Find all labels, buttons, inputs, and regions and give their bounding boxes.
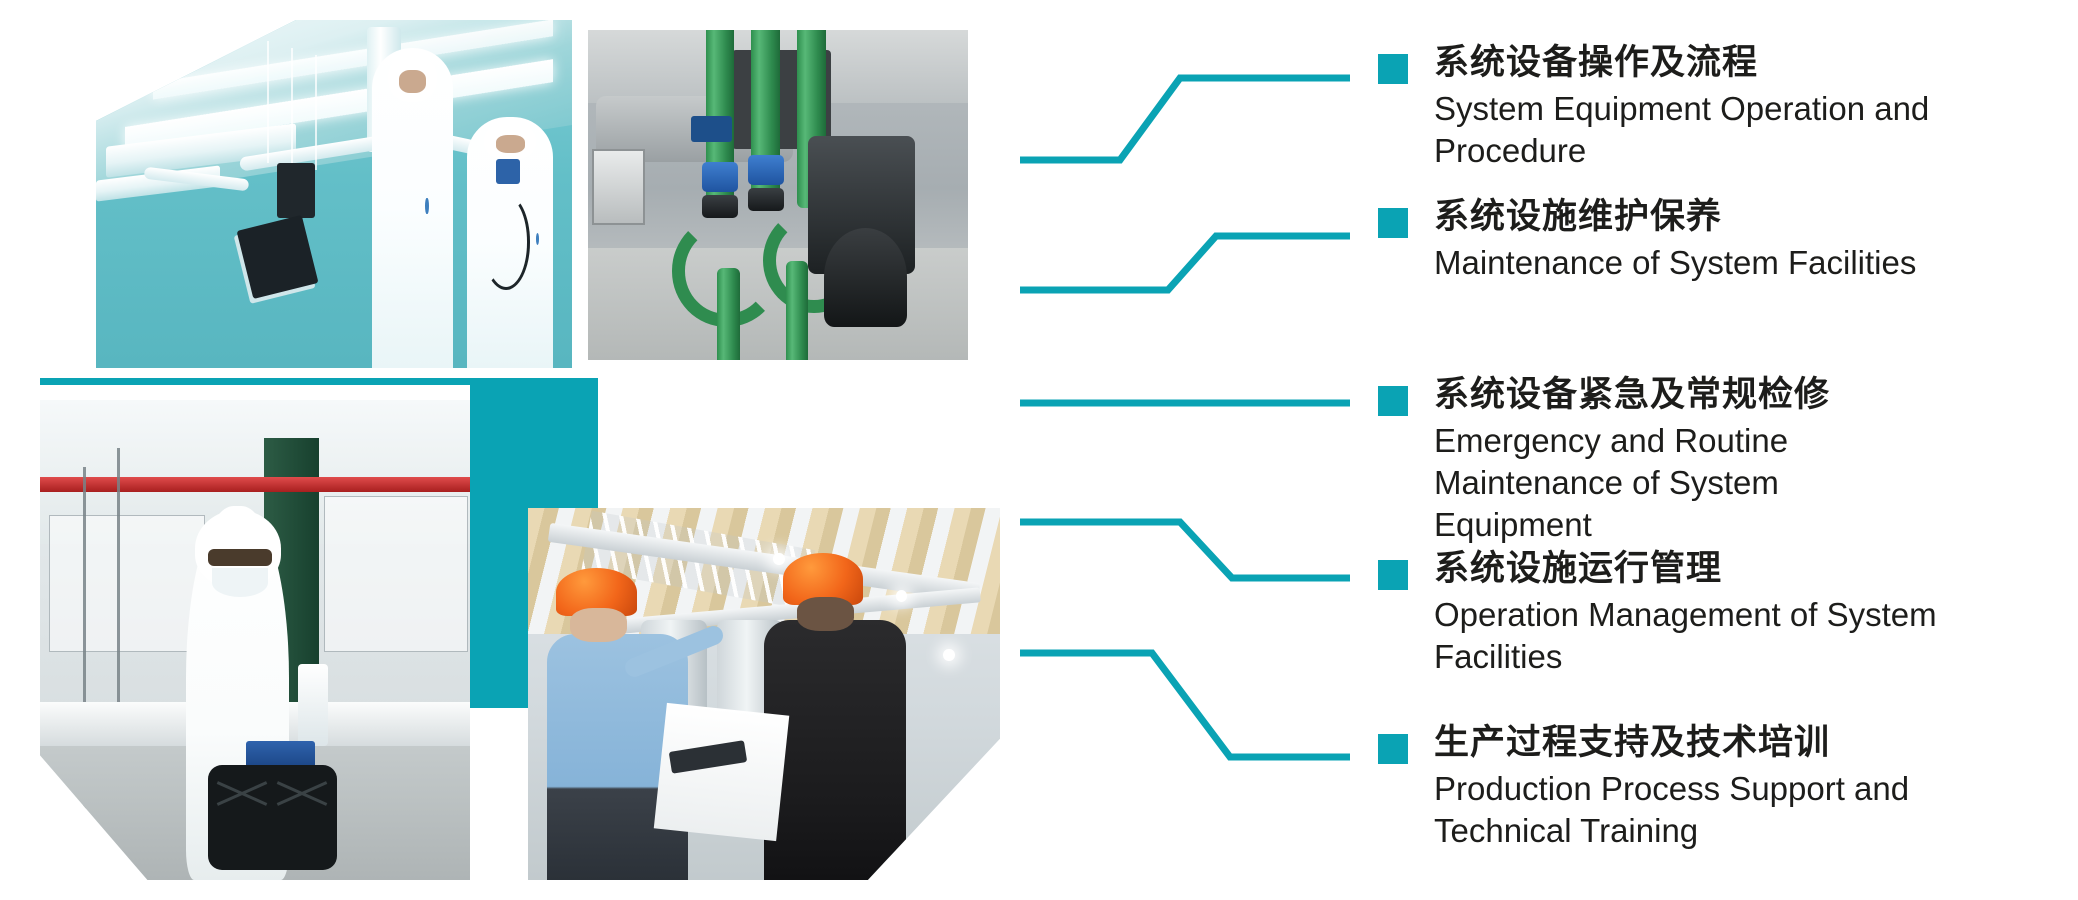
- photo-cleanroom-technician: [40, 400, 470, 880]
- bullet-square-icon: [1378, 560, 1408, 590]
- service-label-en: System Equipment Operation and Procedure: [1434, 88, 2074, 172]
- service-item-3[interactable]: 系统设备紧急及常规检修 Emergency and Routine Mainte…: [1378, 374, 1864, 546]
- worker-face: [496, 135, 525, 153]
- ceiling-lamp: [773, 553, 784, 565]
- photo-cleanroom-workers: [96, 20, 572, 368]
- pressure-gauge: [691, 116, 733, 142]
- service-label-en: Operation Management of System Facilitie…: [1434, 594, 1974, 678]
- engineer-head: [797, 597, 854, 630]
- worker-badge: [536, 233, 539, 246]
- blue-flexible-coupling: [702, 162, 738, 192]
- filter-test-hood: [208, 765, 337, 871]
- service-item-text: 系统设施维护保养 Maintenance of System Facilitie…: [1434, 196, 1916, 284]
- photo-engineers-inspection: [528, 508, 1000, 880]
- service-item-text: 系统设备紧急及常规检修 Emergency and Routine Mainte…: [1434, 374, 1864, 546]
- suspended-instrument: [277, 163, 315, 219]
- handheld-tool: [496, 159, 520, 183]
- worker-face: [399, 70, 427, 92]
- service-label-zh: 生产过程支持及技术培训: [1434, 722, 1934, 765]
- service-label-zh: 系统设备操作及流程: [1434, 42, 2074, 85]
- connector-line-2: [1020, 236, 1350, 290]
- rubber-expansion-joint: [748, 188, 784, 211]
- spray-bottle: [298, 664, 328, 746]
- service-item-text: 系统设施运行管理 Operation Management of System …: [1434, 548, 1974, 678]
- service-item-text: 系统设备操作及流程 System Equipment Operation and…: [1434, 42, 2074, 172]
- service-label-en: Emergency and Routine Maintenance of Sys…: [1434, 420, 1864, 547]
- bullet-square-icon: [1378, 208, 1408, 238]
- service-item-4[interactable]: 系统设施运行管理 Operation Management of System …: [1378, 548, 1974, 678]
- hanging-cable: [315, 55, 317, 170]
- service-label-en: Production Process Support and Technical…: [1434, 768, 1934, 852]
- engineer-head: [570, 608, 627, 641]
- equipment-rack: [324, 496, 468, 652]
- blue-flexible-coupling: [748, 155, 784, 185]
- hanging-cable: [267, 41, 269, 163]
- slide-canvas: 系统设备操作及流程 System Equipment Operation and…: [0, 0, 2078, 900]
- ceiling-lamp: [943, 649, 954, 661]
- cleanroom-worker: [372, 48, 453, 368]
- service-photo-collage: [0, 0, 1000, 900]
- connector-line-4: [1020, 522, 1350, 578]
- service-label-zh: 系统设施维护保养: [1434, 196, 1916, 239]
- service-label-zh: 系统设施运行管理: [1434, 548, 1974, 591]
- services-list: 系统设备操作及流程 System Equipment Operation and…: [1378, 0, 2078, 900]
- connector-line-1: [1020, 78, 1350, 160]
- pump-volute: [824, 228, 908, 327]
- service-label-en: Maintenance of System Facilities: [1434, 242, 1916, 284]
- photo-industrial-pipes: [588, 30, 968, 360]
- service-item-text: 生产过程支持及技术培训 Production Process Support a…: [1434, 722, 1934, 852]
- green-pipe-drop: [717, 268, 740, 360]
- worker-badge: [425, 198, 428, 214]
- service-item-5[interactable]: 生产过程支持及技术培训 Production Process Support a…: [1378, 722, 1934, 852]
- hanging-cable: [291, 48, 293, 166]
- bullet-square-icon: [1378, 386, 1408, 416]
- control-panel: [592, 149, 645, 226]
- equipment-rack: [49, 515, 206, 651]
- safety-goggles: [208, 549, 273, 566]
- service-item-1[interactable]: 系统设备操作及流程 System Equipment Operation and…: [1378, 42, 2074, 172]
- service-item-2[interactable]: 系统设施维护保养 Maintenance of System Facilitie…: [1378, 196, 1916, 284]
- connector-line-5: [1020, 653, 1350, 757]
- face-mask: [212, 568, 268, 597]
- bullet-square-icon: [1378, 54, 1408, 84]
- connector-lines: [1020, 0, 1360, 900]
- green-pipe-drop: [786, 261, 809, 360]
- red-service-pipe: [40, 477, 470, 492]
- service-label-zh: 系统设备紧急及常规检修: [1434, 374, 1864, 417]
- bullet-square-icon: [1378, 734, 1408, 764]
